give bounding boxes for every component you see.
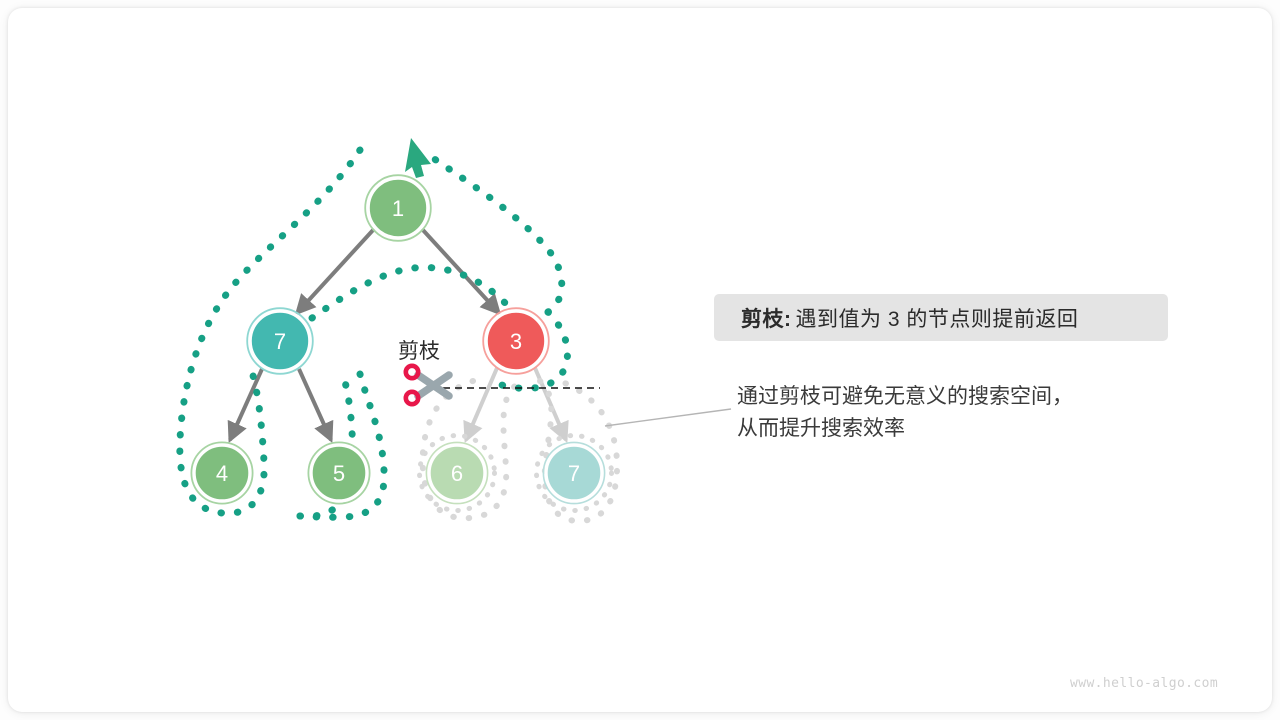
diagram-vector-layer <box>0 0 1280 720</box>
edge-n1-n7l <box>297 229 374 313</box>
explanation-text: 通过剪枝可避免无意义的搜索空间， 从而提升搜索效率 <box>737 381 1073 445</box>
node-n4 <box>191 442 252 503</box>
edge-n1-n3 <box>422 229 499 313</box>
site-watermark: www.hello-algo.com <box>1070 676 1218 691</box>
edge-n7l-n4 <box>230 369 262 440</box>
arrow-cursor-icon <box>405 138 431 178</box>
node-n1 <box>365 175 431 241</box>
pruning-chip-detail: 遇到值为 3 的节点则提前返回 <box>796 303 1079 333</box>
node-n5 <box>308 442 369 503</box>
scissors-label: 剪枝 <box>398 335 440 365</box>
edges-pruned <box>466 368 566 440</box>
scissors-icon <box>406 366 449 404</box>
edge-n7l-n5 <box>299 369 331 440</box>
diagram-canvas: 1 7 3 4 5 6 7 剪枝 剪枝: 遇到值为 3 的节点则提前返回 通过剪… <box>0 0 1280 720</box>
node-n3 <box>483 308 549 374</box>
pruning-chip-title: 剪枝: <box>741 303 792 333</box>
pruning-status-chip: 剪枝: 遇到值为 3 的节点则提前返回 <box>714 294 1168 341</box>
callout-leader-line <box>605 409 731 426</box>
node-n7l <box>247 308 313 374</box>
